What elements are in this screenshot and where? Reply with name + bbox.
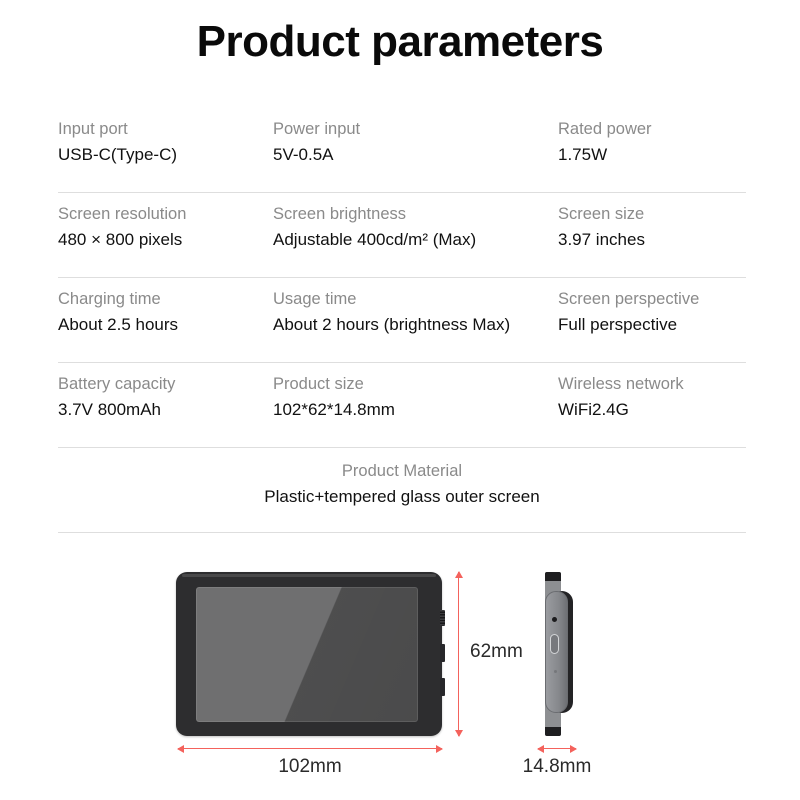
spec-value: About 2.5 hours (58, 313, 273, 338)
spec-label: Screen brightness (273, 203, 558, 225)
arrow-down-icon (455, 730, 463, 737)
spec-value: 102*62*14.8mm (273, 398, 558, 423)
device-top-gloss (182, 574, 436, 577)
speaker-grille-icon (440, 610, 445, 626)
spec-value: 3.97 inches (558, 228, 746, 253)
spec-value: USB-C(Type-C) (58, 143, 273, 168)
spec-cell-input-port: Input port USB-C(Type-C) (58, 108, 273, 193)
dimension-line (458, 572, 459, 736)
arrow-up-icon (455, 571, 463, 578)
spec-label: Wireless network (558, 373, 746, 395)
table-row: Screen resolution 480 × 800 pixels Scree… (58, 193, 746, 278)
spec-label: Screen size (558, 203, 746, 225)
dimension-line-thickness (538, 748, 576, 749)
device-front-view (176, 572, 442, 736)
spec-cell-product-material: Product Material Plastic+tempered glass … (58, 448, 746, 533)
spec-value: WiFi2.4G (558, 398, 746, 423)
spec-value: Adjustable 400cd/m² (Max) (273, 228, 558, 253)
arrow-right-icon (570, 745, 577, 753)
dimension-line-width (178, 748, 442, 749)
arrow-left-icon (537, 745, 544, 753)
spec-cell-wireless-network: Wireless network WiFi2.4G (558, 363, 746, 448)
spec-label: Charging time (58, 288, 273, 310)
spec-value: 480 × 800 pixels (58, 228, 273, 253)
spec-label: Screen perspective (558, 288, 746, 310)
table-row: Battery capacity 3.7V 800mAh Product siz… (58, 363, 746, 448)
product-parameters-page: Product parameters Input port USB-C(Type… (0, 0, 800, 800)
spec-label: Product size (273, 373, 558, 395)
device-screen (196, 587, 418, 722)
specifications-table: Input port USB-C(Type-C) Power input 5V-… (58, 108, 746, 533)
spec-label: Battery capacity (58, 373, 273, 395)
usb-c-port-icon (550, 634, 559, 654)
spec-label: Power input (273, 118, 558, 140)
spec-label: Screen resolution (58, 203, 273, 225)
spec-cell-battery-capacity: Battery capacity 3.7V 800mAh (58, 363, 273, 448)
dimension-label-thickness: 14.8mm (508, 756, 606, 778)
microphone-hole-icon (552, 617, 557, 622)
arrow-right-icon (436, 745, 443, 753)
side-body-bottom-cap (545, 727, 561, 736)
spec-cell-screen-perspective: Screen perspective Full perspective (558, 278, 746, 363)
product-dimension-diagram: 62mm 102mm 14.8mm (0, 548, 800, 800)
spec-value: Full perspective (558, 313, 746, 338)
spec-cell-power-input: Power input 5V-0.5A (273, 108, 558, 193)
side-button-lower (440, 678, 445, 696)
spec-cell-rated-power: Rated power 1.75W (558, 108, 746, 193)
dimension-line (178, 748, 442, 749)
screen-bevel (196, 587, 418, 722)
table-row: Input port USB-C(Type-C) Power input 5V-… (58, 108, 746, 193)
spec-value: 5V-0.5A (273, 143, 558, 168)
spec-label: Rated power (558, 118, 746, 140)
spec-value: 1.75W (558, 143, 746, 168)
spec-value: About 2 hours (brightness Max) (273, 313, 558, 338)
indicator-dot-icon (554, 670, 557, 673)
dimension-label-height: 62mm (470, 641, 523, 663)
spec-cell-screen-brightness: Screen brightness Adjustable 400cd/m² (M… (273, 193, 558, 278)
device-body (176, 572, 442, 736)
spec-cell-product-size: Product size 102*62*14.8mm (273, 363, 558, 448)
spec-label: Usage time (273, 288, 558, 310)
spec-label: Input port (58, 118, 273, 140)
spec-cell-charging-time: Charging time About 2.5 hours (58, 278, 273, 363)
spec-value: Plastic+tempered glass outer screen (58, 485, 746, 510)
spec-value: 3.7V 800mAh (58, 398, 273, 423)
side-button-upper (440, 644, 445, 662)
spec-label: Product Material (58, 460, 746, 482)
device-side-view (534, 572, 578, 736)
spec-cell-screen-resolution: Screen resolution 480 × 800 pixels (58, 193, 273, 278)
dimension-label-width: 102mm (178, 756, 442, 778)
page-title: Product parameters (0, 18, 800, 66)
dimension-line-height (458, 572, 459, 736)
spec-cell-usage-time: Usage time About 2 hours (brightness Max… (273, 278, 558, 363)
table-row: Charging time About 2.5 hours Usage time… (58, 278, 746, 363)
arrow-left-icon (177, 745, 184, 753)
spec-cell-screen-size: Screen size 3.97 inches (558, 193, 746, 278)
side-body-top-cap (545, 572, 561, 581)
